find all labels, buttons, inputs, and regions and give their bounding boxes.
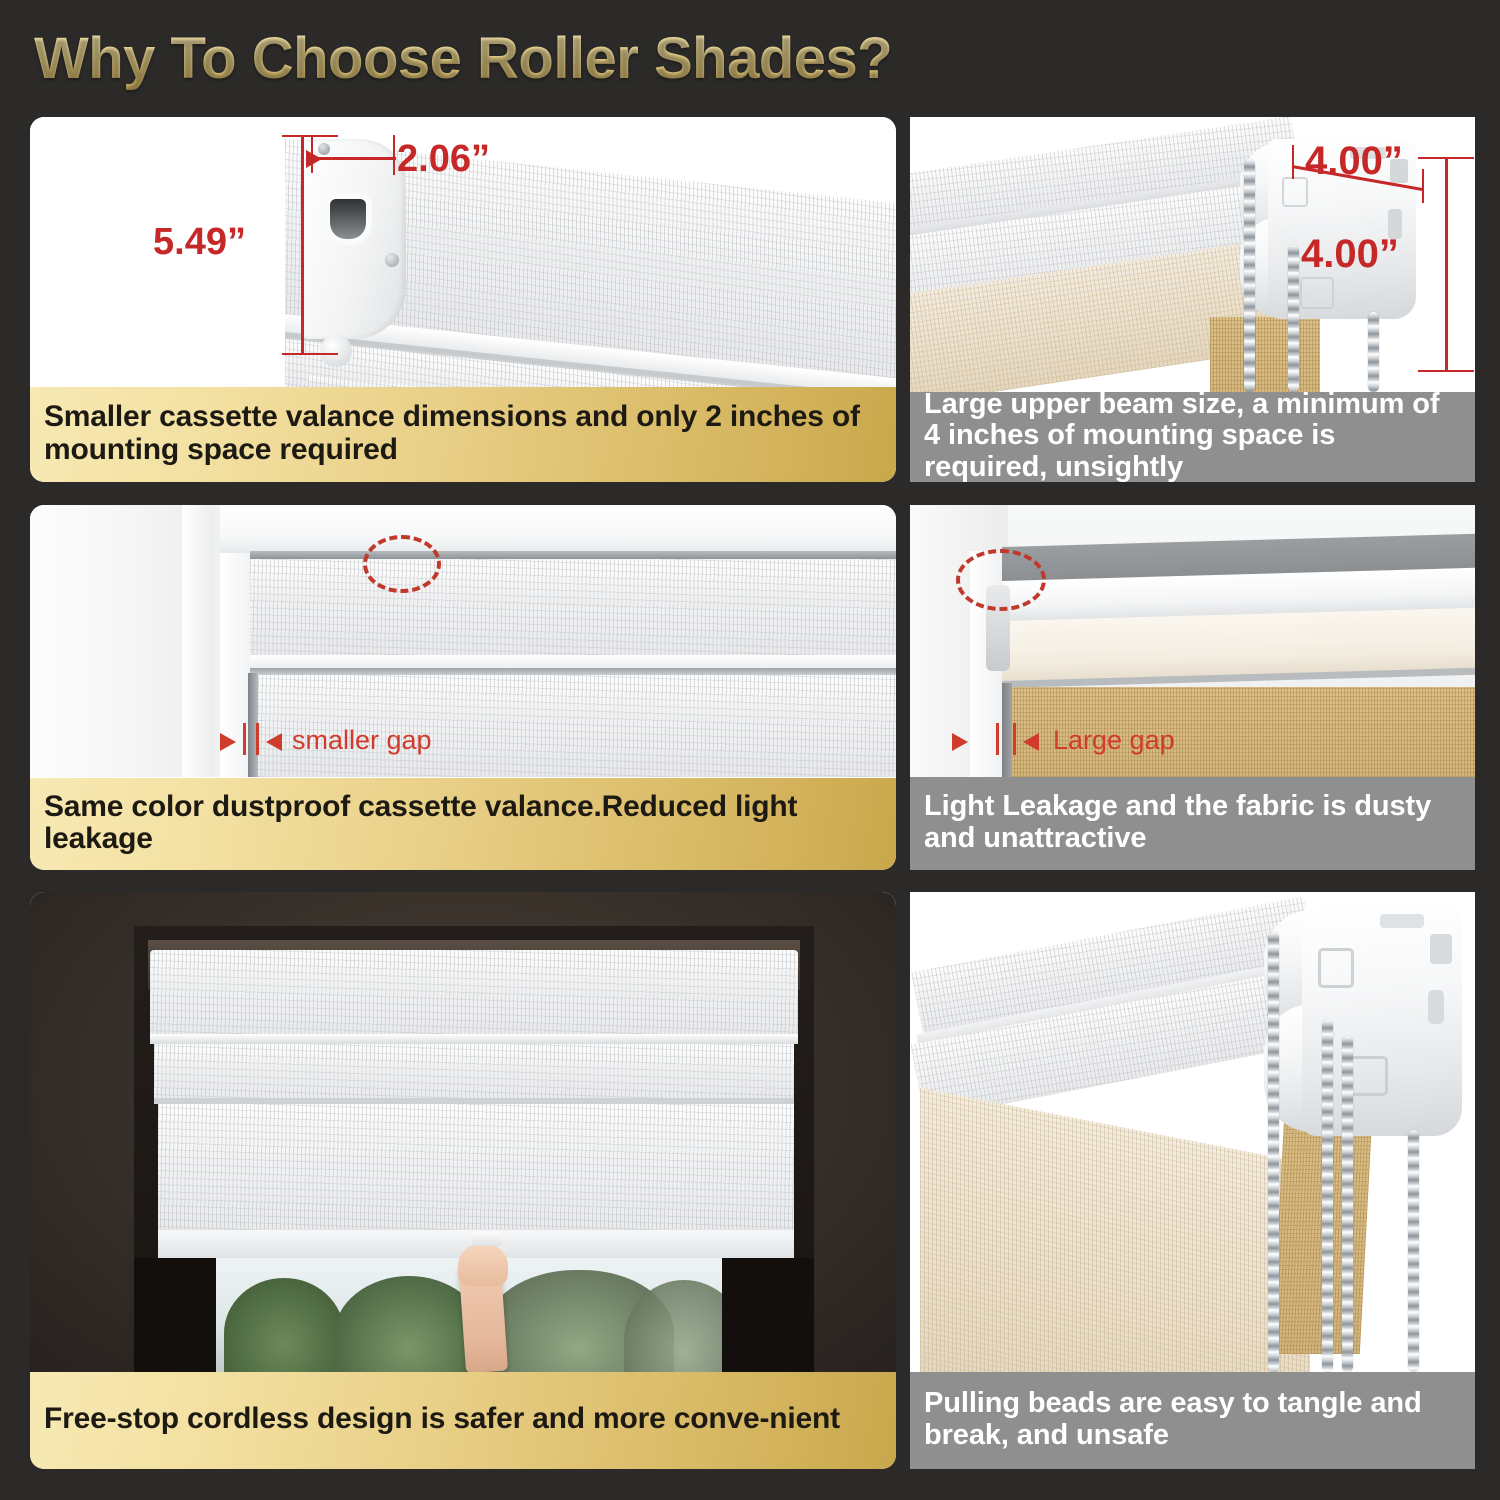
bead-chain-6-mid2 — [1342, 1036, 1353, 1372]
shade-body — [158, 1104, 794, 1234]
shade-valance — [150, 950, 798, 1038]
panel-1-photo: 2.06” 5.49” — [30, 117, 896, 387]
end-cap-bracket — [302, 139, 406, 339]
light-leakage-illustration: Large gap — [910, 505, 1475, 777]
jamb-right — [722, 1258, 814, 1372]
valance-top-edge — [250, 551, 896, 559]
dim-height-tick-top — [282, 135, 338, 137]
screw-lower — [320, 335, 352, 367]
smaller-gap-arrow-left — [266, 733, 282, 751]
beam-height-tick-top — [1418, 157, 1474, 159]
panel-4-caption-text: Light Leakage and the fabric is dusty an… — [924, 791, 1461, 854]
dim-height-tick-bottom — [282, 353, 338, 355]
bead-chain-6-right — [1408, 1130, 1419, 1372]
hand-fingers — [458, 1244, 508, 1286]
panel-1-caption: Smaller cassette valance dimensions and … — [30, 387, 896, 482]
cordless-room-scene — [30, 892, 896, 1372]
clutch-slot — [330, 199, 366, 239]
beam-width-tick-left — [1292, 145, 1294, 179]
bracket-emboss-6a — [1318, 948, 1354, 988]
bead-chain-left — [1244, 159, 1255, 392]
large-gap-label: Large gap — [1053, 725, 1175, 756]
smaller-gap-arrow-right — [220, 733, 236, 751]
gap-highlight-circle-4 — [956, 549, 1046, 611]
panel-1-caption-text: Smaller cassette valance dimensions and … — [44, 401, 882, 466]
beam-height-label: 4.00” — [1301, 232, 1399, 277]
panel-2-photo: 4.00” 4.00” — [910, 117, 1475, 392]
panel-3-photo: smaller gap — [30, 505, 896, 777]
beam-width-tick-right — [1422, 169, 1424, 203]
panel-pulling-beads: Pulling beads are easy to tangle and bre… — [910, 892, 1475, 1469]
dim-width-line — [311, 157, 396, 160]
infographic-page: Why To Choose Roller Shades? Why To Choo… — [0, 0, 1500, 1500]
valance-face — [250, 559, 896, 657]
bead-chain-mid — [1288, 245, 1299, 392]
large-beam-illustration: 4.00” 4.00” — [910, 117, 1475, 392]
pulling-beads-illustration — [910, 892, 1475, 1372]
panel-large-upper-beam: 4.00” 4.00” Large upper beam size, a min… — [910, 117, 1475, 482]
dim-height-label: 5.49” — [153, 221, 246, 264]
panel-6-caption-text: Pulling beads are easy to tangle and bre… — [924, 1388, 1461, 1451]
dim-height-line — [301, 135, 304, 355]
panel-2-caption-text: Large upper beam size, a minimum of 4 in… — [924, 389, 1461, 482]
valance-rail — [150, 1034, 798, 1044]
window-header — [220, 505, 896, 553]
cassette-valance-illustration: 2.06” 5.49” — [30, 117, 896, 387]
beam-height-line — [1445, 157, 1448, 372]
tree-1 — [224, 1278, 344, 1372]
smaller-gap-tick-left — [243, 723, 246, 755]
panel-3-caption-text: Same color dustproof cassette valance.Re… — [44, 791, 882, 856]
panel-4-caption: Light Leakage and the fabric is dusty an… — [910, 777, 1475, 870]
panel-smaller-cassette: 2.06” 5.49” Smaller cassette valance dim… — [30, 117, 896, 482]
shade-second-band — [154, 1044, 794, 1102]
panel-light-leakage: Large gap Light Leakage and the fabric i… — [910, 505, 1475, 870]
dim-width-tick-right — [393, 135, 395, 175]
large-gap-tick-left — [996, 723, 999, 755]
panel-5-photo — [30, 892, 896, 1372]
bracket-notch-6c — [1380, 914, 1424, 928]
panel-cordless-design: Free-stop cordless design is safer and m… — [30, 892, 896, 1469]
panel-dustproof-valance: smaller gap Same color dustproof cassett… — [30, 505, 896, 870]
dustproof-valance-illustration: smaller gap — [30, 505, 896, 777]
smaller-gap-label: smaller gap — [292, 725, 432, 756]
bead-chain-6-left — [1268, 932, 1279, 1372]
panel-5-caption-text: Free-stop cordless design is safer and m… — [44, 1403, 840, 1435]
jamb-left — [134, 1258, 216, 1372]
bracket-emboss-lower — [1300, 277, 1334, 309]
beam-width-label: 4.00” — [1305, 139, 1403, 184]
large-gap-arrow-left — [1023, 733, 1039, 751]
beam-height-tick-bottom — [1418, 370, 1474, 372]
page-title: Why To Choose Roller Shades? — [34, 20, 1234, 100]
shade-pull-tab — [472, 1232, 502, 1246]
panel-6-caption: Pulling beads are easy to tangle and bre… — [910, 1372, 1475, 1469]
screw-mid — [385, 253, 399, 267]
bead-chain-6-mid — [1322, 1020, 1333, 1372]
smaller-gap-tick-right — [256, 723, 259, 755]
bead-chain-right — [1368, 312, 1379, 392]
bracket-notch-6a — [1430, 934, 1452, 964]
large-gap-tick-right — [1013, 723, 1016, 755]
panel-6-photo — [910, 892, 1475, 1372]
bracket-notch-6b — [1428, 990, 1444, 1024]
panel-2-caption: Large upper beam size, a minimum of 4 in… — [910, 392, 1475, 482]
tan-inner-fabric — [1210, 317, 1320, 392]
valance-lower-lip — [250, 655, 896, 669]
gap-highlight-circle — [363, 535, 441, 593]
panel-3-caption: Same color dustproof cassette valance.Re… — [30, 778, 896, 870]
dim-width-label: 2.06” — [397, 138, 490, 181]
panel-4-photo: Large gap — [910, 505, 1475, 777]
large-gap-arrow-right — [952, 733, 968, 751]
dim-width-arrow — [306, 150, 322, 168]
valance-underline — [250, 668, 896, 675]
panel-5-caption: Free-stop cordless design is safer and m… — [30, 1372, 896, 1469]
